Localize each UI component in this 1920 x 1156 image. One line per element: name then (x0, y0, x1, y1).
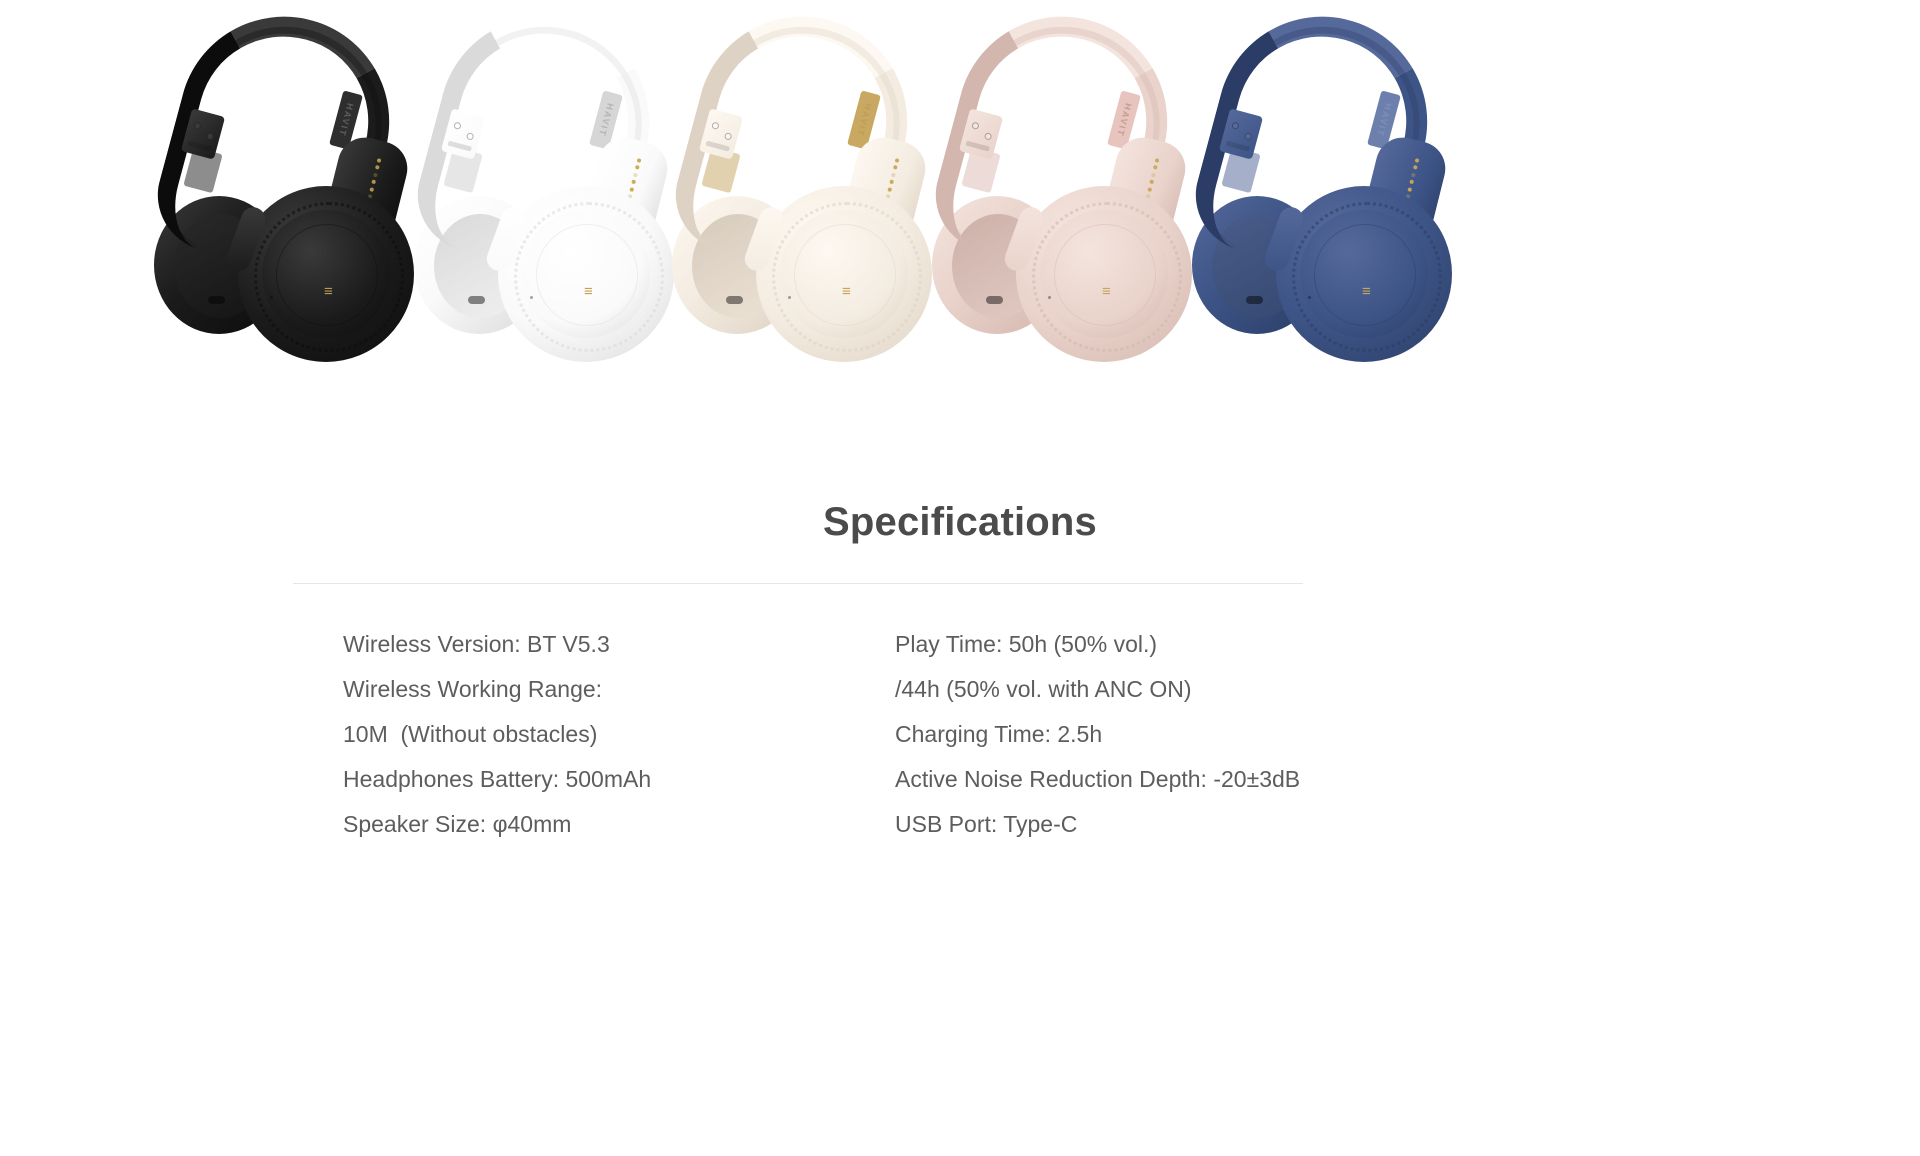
adjuster-screw-icon (453, 121, 462, 130)
adjuster-screw-icon (1231, 121, 1240, 130)
spec-line: 10M (Without obstacles) (343, 712, 651, 757)
spec-line: Charging Time: 2.5h (895, 712, 1300, 757)
usb-c-port-icon (1246, 296, 1263, 304)
brand-emblem-icon: ≡ (1362, 284, 1370, 299)
microphone-hole-icon (530, 296, 533, 299)
adjuster-screw-icon (1244, 132, 1253, 141)
spec-line: Wireless Working Range: (343, 667, 651, 712)
spec-line: Active Noise Reduction Depth: -20±3dB (895, 757, 1300, 802)
usb-c-port-icon (986, 296, 1003, 304)
brand-emblem-icon: ≡ (584, 284, 592, 299)
ear-cup-inner-ring (1054, 224, 1156, 326)
brand-emblem-icon: ≡ (324, 284, 332, 299)
ear-cup-inner-ring (536, 224, 638, 326)
usb-c-port-icon (726, 296, 743, 304)
microphone-hole-icon (1308, 296, 1311, 299)
brand-logo-text: HAVIT (1115, 102, 1134, 138)
spec-line: USB Port: Type-C (895, 802, 1300, 847)
specifications-heading: Specifications (0, 500, 1920, 545)
adjuster-screw-icon (466, 132, 475, 141)
brand-logo-text: HAVIT (597, 102, 616, 138)
product-spec-page: HAVIT≡HAVIT≡HAVIT≡HAVIT≡HAVIT≡ Specifica… (0, 0, 1920, 1156)
adjuster-slot (706, 141, 730, 152)
headphone-color-gallery: HAVIT≡HAVIT≡HAVIT≡HAVIT≡HAVIT≡ (0, 0, 1920, 500)
ear-cup-inner-ring (1314, 224, 1416, 326)
microphone-hole-icon (1048, 296, 1051, 299)
adjuster-screw-icon (711, 121, 720, 130)
ear-cup-inner-ring (276, 224, 378, 326)
spec-line: /44h (50% vol. with ANC ON) (895, 667, 1300, 712)
brand-emblem-icon: ≡ (1102, 284, 1110, 299)
brand-logo-text: HAVIT (1375, 102, 1394, 138)
ear-cup-inner-ring (794, 224, 896, 326)
adjuster-screw-icon (193, 121, 202, 130)
adjuster-screw-icon (984, 132, 993, 141)
spec-line: Headphones Battery: 500mAh (343, 757, 651, 802)
adjuster-slot (1226, 141, 1250, 152)
brand-logo-text: HAVIT (855, 102, 874, 138)
brand-logo-text: HAVIT (337, 102, 356, 138)
spec-line: Play Time: 50h (50% vol.) (895, 622, 1300, 667)
spec-line: Speaker Size: φ40mm (343, 802, 651, 847)
microphone-hole-icon (270, 296, 273, 299)
spec-column-right: Play Time: 50h (50% vol.)/44h (50% vol. … (895, 622, 1300, 847)
adjuster-screw-icon (206, 132, 215, 141)
adjuster-slot (188, 141, 212, 152)
adjuster-screw-icon (724, 132, 733, 141)
adjuster-slot (966, 141, 990, 152)
headphone-navy[interactable]: HAVIT≡ (1168, 0, 1498, 420)
brand-emblem-icon: ≡ (842, 284, 850, 299)
usb-c-port-icon (208, 296, 225, 304)
spec-line: Wireless Version: BT V5.3 (343, 622, 651, 667)
microphone-hole-icon (788, 296, 791, 299)
section-divider (293, 583, 1303, 584)
usb-c-port-icon (468, 296, 485, 304)
adjuster-screw-icon (971, 121, 980, 130)
spec-column-left: Wireless Version: BT V5.3Wireless Workin… (343, 622, 651, 847)
adjuster-slot (448, 141, 472, 152)
